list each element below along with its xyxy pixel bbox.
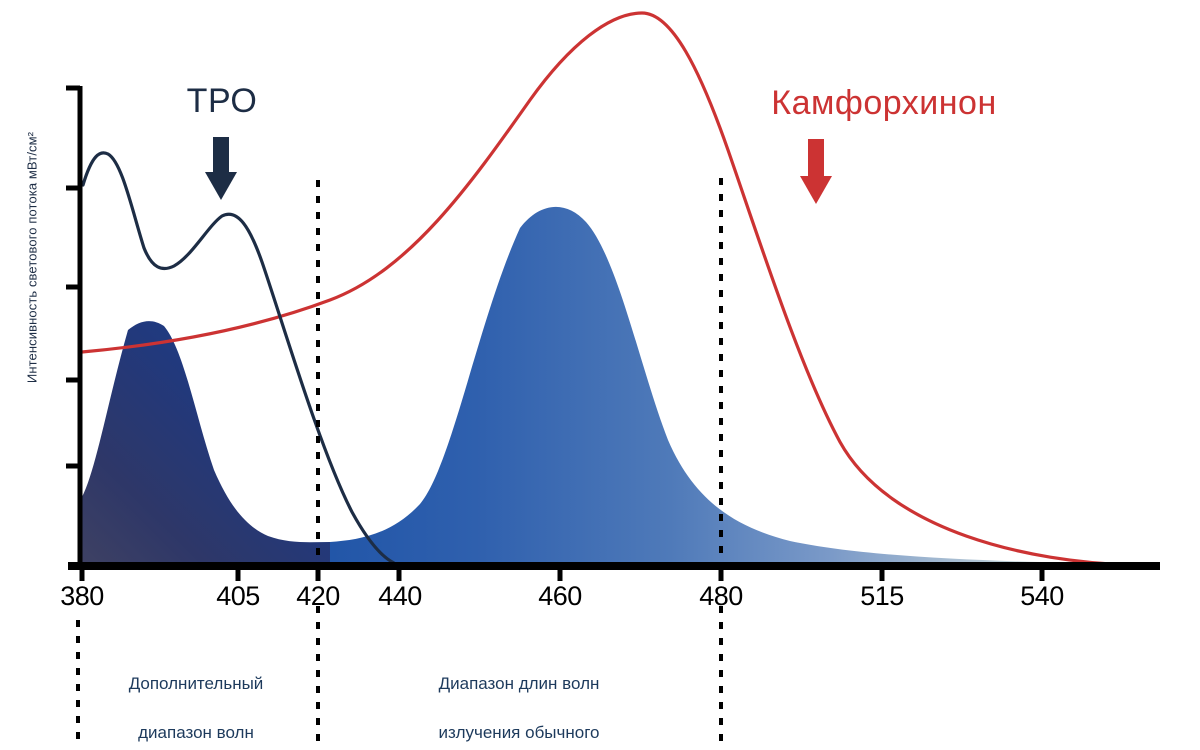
y-axis-label: Интенсивность светового потока мВт/см²: [25, 78, 40, 438]
x-tick-label-540: 540: [1020, 581, 1064, 612]
iled-caption-line2: диапазон волн: [71, 721, 321, 746]
spectrum-chart: [0, 0, 1200, 750]
conventional-caption-line2: излучения обычного: [339, 721, 699, 746]
conventional-band-caption: Диапазон длин волн излучения обычного по…: [339, 647, 699, 750]
camphorquinone-label: Камфорхинон: [771, 84, 996, 123]
iled-caption-line1: Дополнительный: [71, 672, 321, 697]
tpo-label: ТРО: [187, 82, 258, 121]
x-tick-label-380: 380: [60, 581, 104, 612]
camphorquinone-arrow-icon: [800, 139, 832, 204]
x-tick-label-480: 480: [699, 581, 743, 612]
x-tick-label-405: 405: [216, 581, 260, 612]
x-tick-label-460: 460: [538, 581, 582, 612]
chart-canvas: Интенсивность светового потока мВт/см² 3…: [0, 0, 1200, 750]
conventional-caption-line1: Диапазон длин волн: [339, 672, 699, 697]
x-tick-label-515: 515: [860, 581, 904, 612]
iled-band-caption: Дополнительный диапазон волн iLed: [71, 647, 321, 750]
tpo-arrow-icon: [205, 137, 237, 200]
x-tick-label-420: 420: [296, 581, 340, 612]
conventional-area-curve: [330, 207, 1140, 565]
x-tick-label-440: 440: [378, 581, 422, 612]
